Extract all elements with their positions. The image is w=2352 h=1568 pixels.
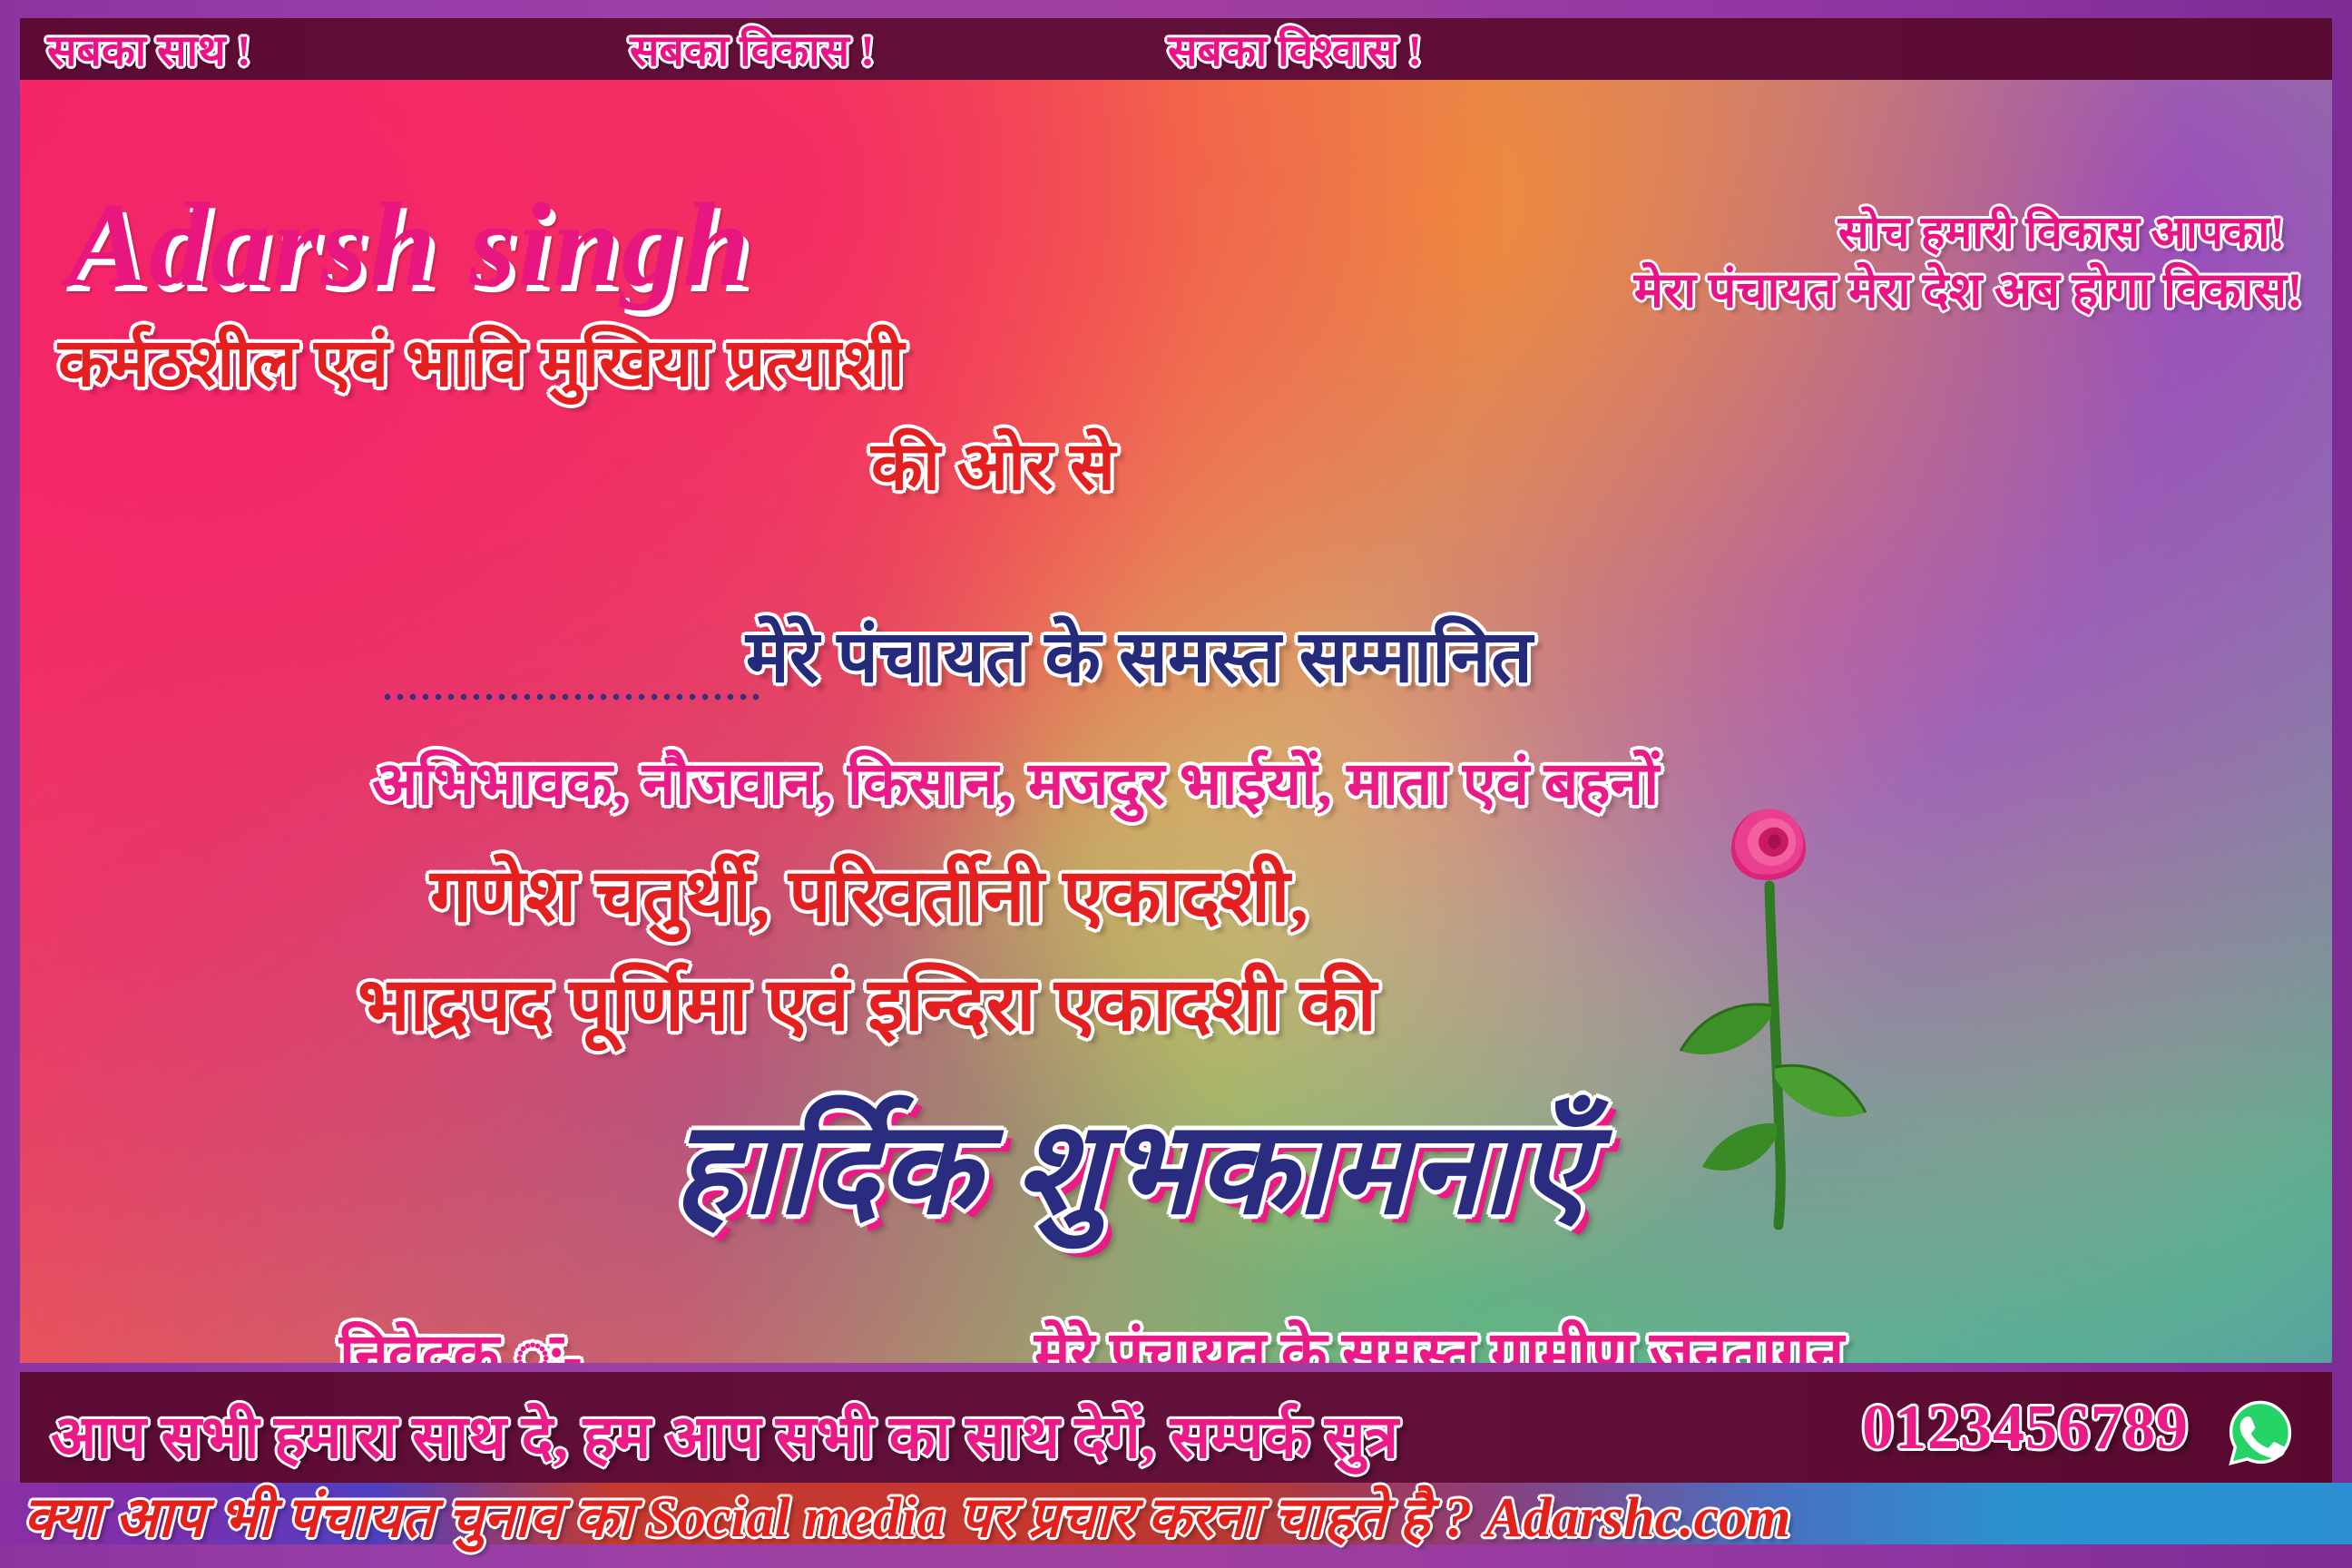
candidate-name: Adarsh singh — [67, 175, 751, 314]
top-slogan-bar: सबका साथ ! सबका विकास ! सबका विश्वास ! — [20, 18, 2332, 80]
whatsapp-icon[interactable] — [2227, 1399, 2294, 1466]
candidate-role-line: कर्मठशील एवं भावि मुखिया प्रत्याशी — [58, 314, 904, 406]
footer-phone-number[interactable]: 0123456789 — [1862, 1392, 2189, 1465]
signature-label: निवेदक ः- — [339, 1312, 583, 1363]
top-slogan-left: सबका साथ ! — [47, 20, 251, 79]
promo-text[interactable]: क्या आप भी पंचायत चुनाव का Social media … — [24, 1477, 2352, 1553]
from-line: की ओर से — [871, 417, 1115, 509]
footer-contact-bar: आप सभी हमारा साथ दे, हम आप सभी का साथ दे… — [20, 1372, 2332, 1483]
top-slogan-center: सबका विकास ! — [630, 20, 875, 79]
dotted-leader-1 — [381, 690, 764, 704]
signature-value: मेरे पंचायत के समस्त ग्रामीण जनतागन — [1034, 1310, 1844, 1363]
greeting-recipient-line-2: अभिभावक, नौजवान, किसान, मजदुर भाईयों, मा… — [372, 740, 1659, 822]
poster-text-layer: Adarsh singh सोच हमारी विकास आपका! मेरा … — [20, 80, 2332, 1363]
top-slogan-right: सबका विश्वास ! — [1168, 20, 1422, 79]
footer-support-text: आप सभी हमारा साथ दे, हम आप सभी का साथ दे… — [51, 1394, 1398, 1475]
election-greeting-poster: सबका साथ ! सबका विकास ! सबका विश्वास ! A… — [0, 0, 2352, 1568]
wish-heading: हार्दिक शुभकामनाएँ — [673, 1074, 1590, 1250]
festival-line-1: गणेश चतुर्थी, परिवर्तीनी एकादशी, — [430, 842, 1308, 944]
rose-flower-icon — [1644, 779, 1880, 1232]
festival-line-2: भाद्रपद पूर्णिमा एवं इन्दिरा एकादशी की — [358, 951, 1377, 1053]
greeting-recipient-line-1: मेरे पंचायत के समस्त सम्मानित — [746, 604, 1533, 703]
header-slogan-line-1: सोच हमारी विकास आपका! — [1838, 200, 2285, 261]
poster-main-panel: Adarsh singh सोच हमारी विकास आपका! मेरा … — [20, 80, 2332, 1363]
header-slogan-line-2: मेरा पंचायत मेरा देश अब होगा विकास! — [1634, 254, 2303, 321]
